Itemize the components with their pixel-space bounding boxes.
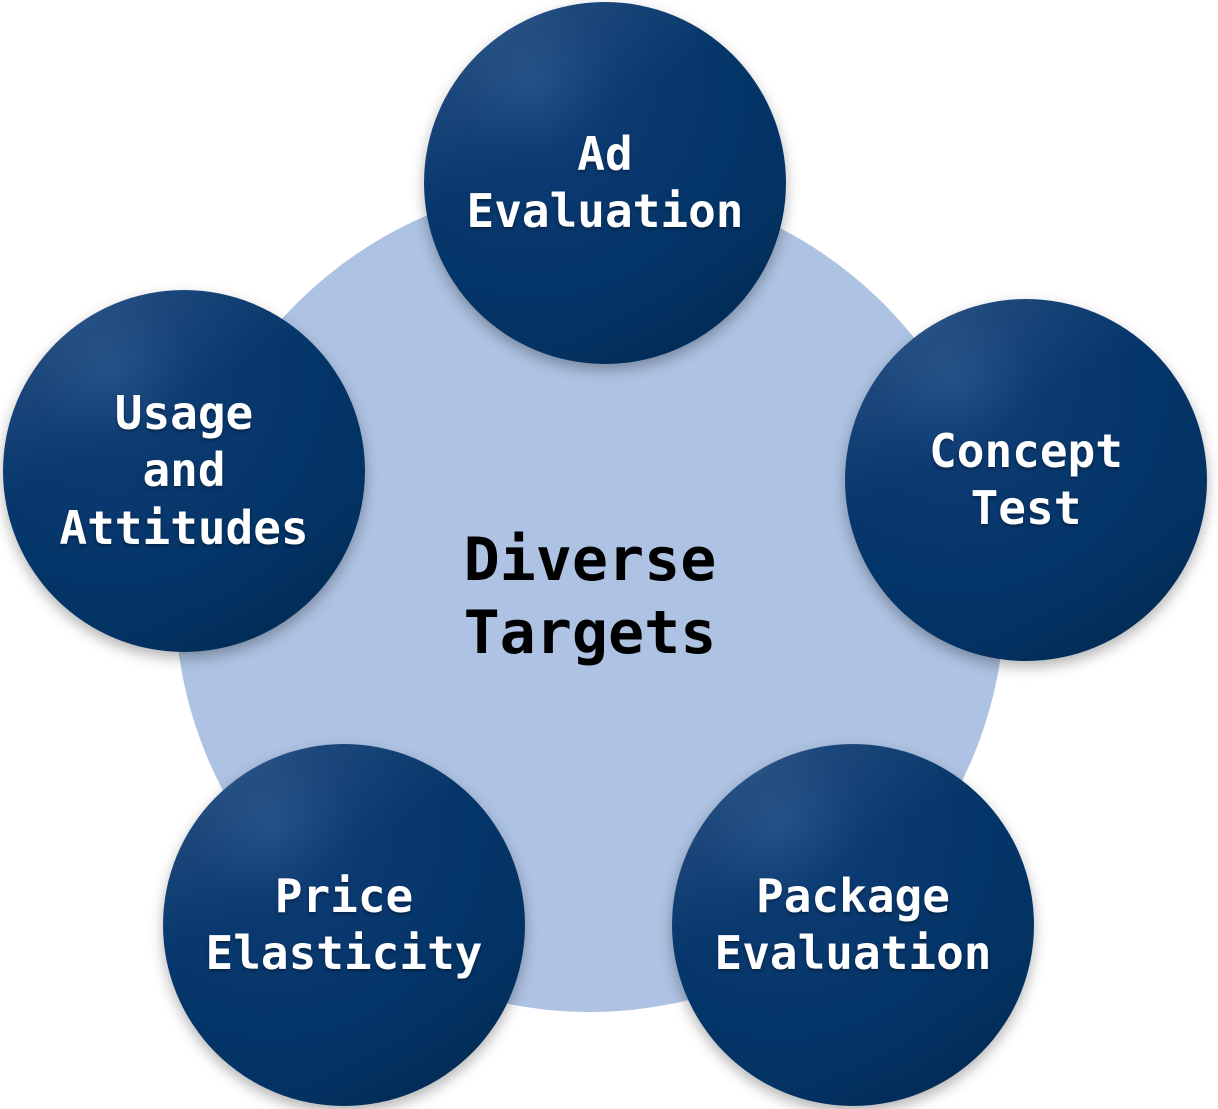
node-label-package-evaluation: Package Evaluation	[709, 868, 998, 982]
node-circle-package-evaluation[interactable]: Package Evaluation	[672, 744, 1034, 1106]
node-circle-usage-attitudes[interactable]: Usage and Attitudes	[3, 290, 365, 652]
node-label-usage-attitudes: Usage and Attitudes	[53, 385, 314, 556]
node-label-concept-test: Concept Test	[923, 423, 1129, 537]
node-label-ad-evaluation: Ad Evaluation	[461, 126, 750, 240]
diagram-canvas: Diverse Targets Ad Evaluation Concept Te…	[0, 0, 1218, 1109]
node-circle-price-elasticity[interactable]: Price Elasticity	[163, 744, 525, 1106]
node-circle-concept-test[interactable]: Concept Test	[845, 299, 1207, 661]
hub-label-diverse-targets: Diverse Targets	[464, 524, 717, 670]
node-circle-ad-evaluation[interactable]: Ad Evaluation	[424, 2, 786, 364]
node-label-price-elasticity: Price Elasticity	[200, 868, 489, 982]
